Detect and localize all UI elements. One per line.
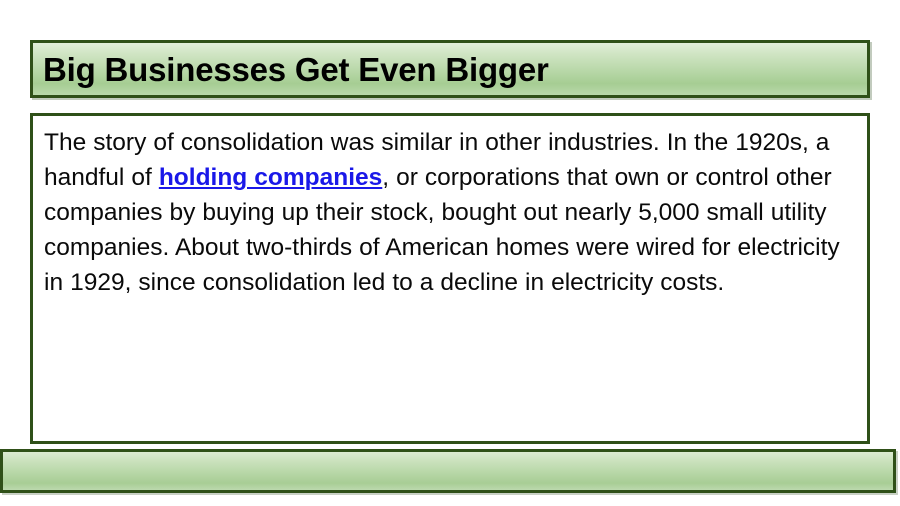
holding-companies-link[interactable]: holding companies: [159, 164, 382, 191]
content-box: The story of consolidation was similar i…: [30, 113, 870, 444]
title-banner: Big Businesses Get Even Bigger: [30, 40, 870, 98]
body-paragraph: The story of consolidation was similar i…: [33, 116, 867, 300]
bottom-banner: [0, 449, 896, 493]
slide-canvas: Big Businesses Get Even Bigger The story…: [0, 0, 900, 506]
page-title: Big Businesses Get Even Bigger: [33, 53, 549, 86]
